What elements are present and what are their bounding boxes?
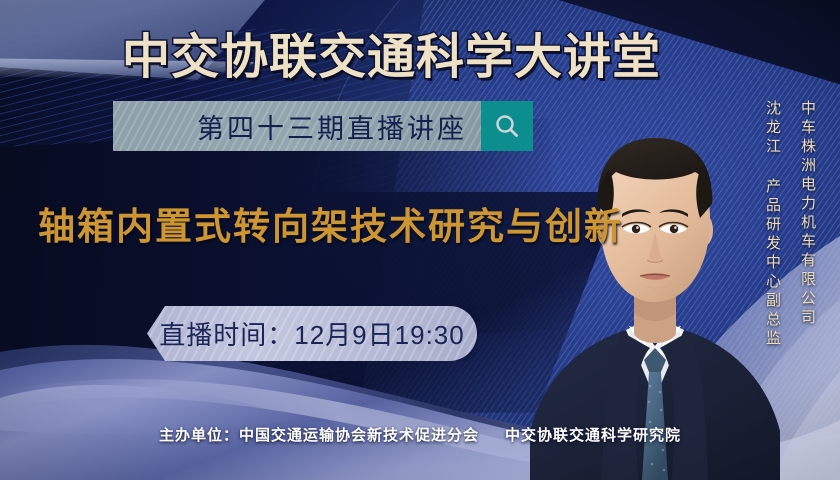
page-title: 中交协联交通科学大讲堂 xyxy=(122,17,661,87)
speaker-portrait xyxy=(530,80,780,480)
episode-label: 第四十三期直播讲座 xyxy=(197,107,467,146)
speaker-company: 中车株洲电力机车有限公司 xyxy=(797,100,818,328)
organizer-primary: 中国交通运输协会新技术促进分会 xyxy=(239,427,479,444)
organizer-secondary: 中交协联交通科学研究院 xyxy=(505,427,681,444)
broadcast-time-text: 直播时间：12月9日19:30 xyxy=(159,315,464,352)
episode-banner-body: 第四十三期直播讲座 xyxy=(113,101,481,151)
lecture-topic-title: 轴箱内置式转向架技术研究与创新 xyxy=(38,196,623,250)
speaker-name-title: 沈龙江 产品研发中心副总监 xyxy=(762,100,783,349)
episode-banner: 第四十三期直播讲座 xyxy=(113,101,533,151)
organizers-prefix: 主办单位： xyxy=(159,427,239,444)
broadcast-time-badge: 直播时间：12月9日19:30 xyxy=(147,306,477,361)
live-stream-poster: 中交协联交通科学大讲堂 第四十三期直播讲座 轴箱内置式转向架技术研究与创新 直播… xyxy=(0,0,840,480)
search-icon xyxy=(493,112,521,140)
organizers-footer: 主办单位：中国交通运输协会新技术促进分会中交协联交通科学研究院 xyxy=(0,424,840,445)
search-button[interactable] xyxy=(481,101,533,151)
